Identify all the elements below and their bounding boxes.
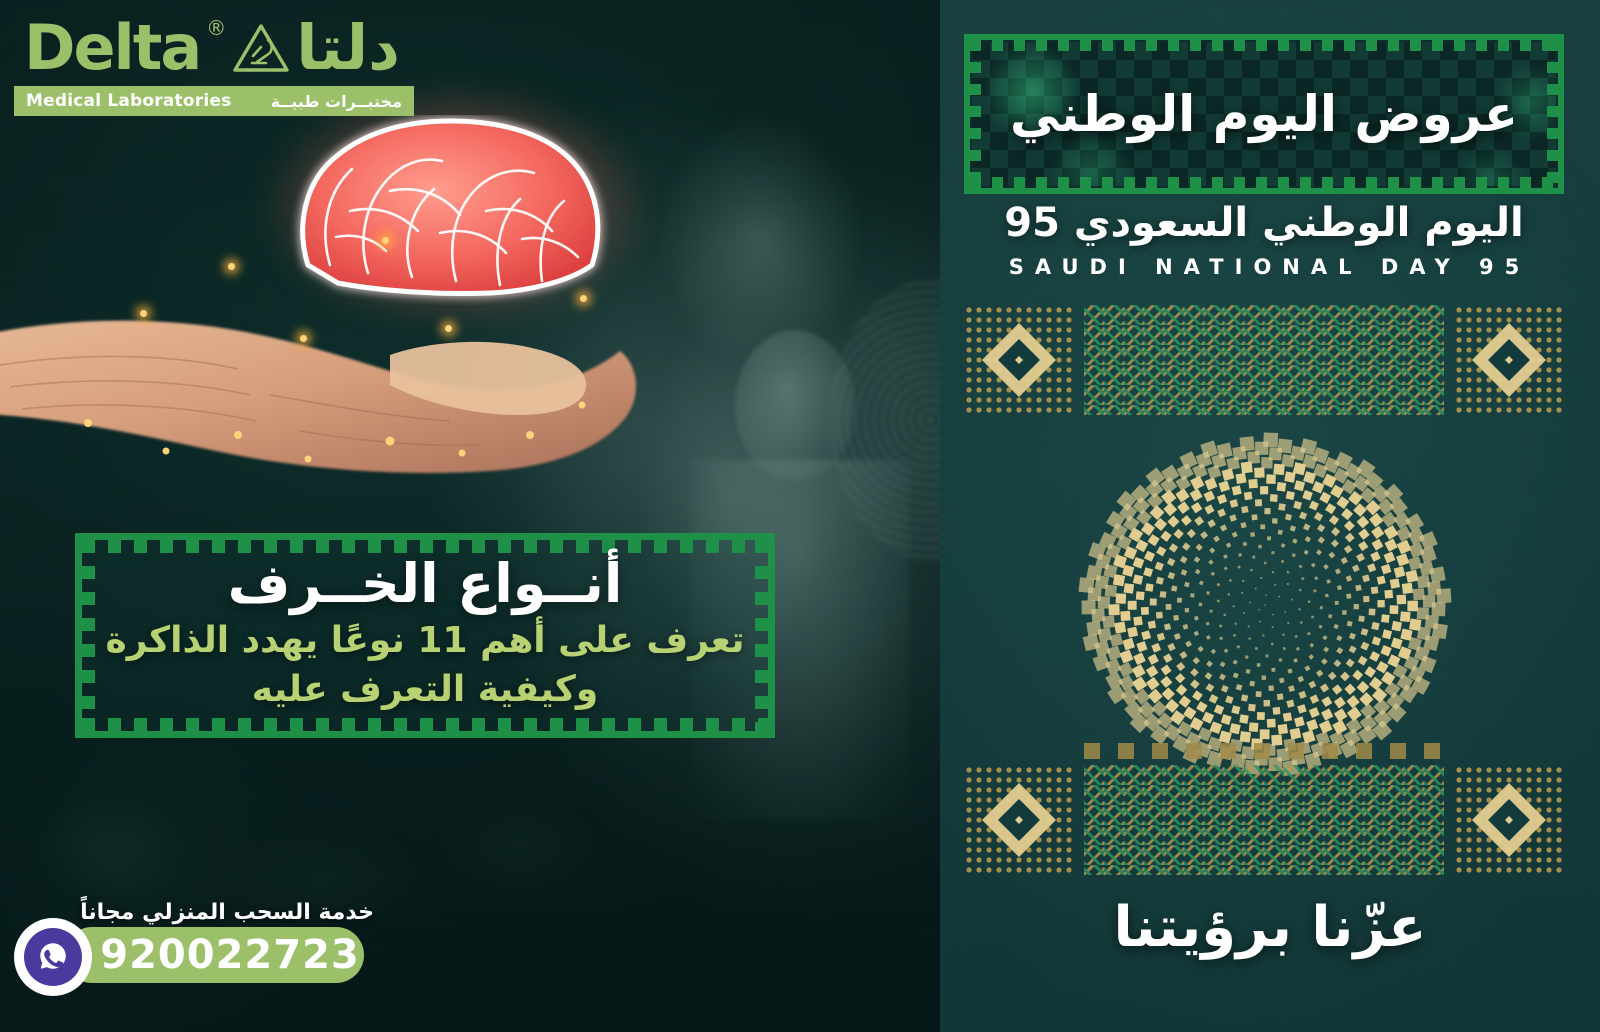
national-day-slogan: عزّنا برؤيتنا	[950, 895, 1590, 960]
logo-tagline-en: Medical Laboratories	[26, 91, 231, 111]
sadu-center-weave-top	[1084, 305, 1444, 415]
logo-tagline-ar: مختبــرات طبيــة	[271, 92, 402, 111]
national-day-title-en: SAUDI NATIONAL DAY 95	[964, 255, 1564, 279]
headline-title: أنــواع الخــرف	[228, 553, 623, 615]
microscope-triangle-icon	[232, 22, 290, 74]
headline-subtitle-line2: وكيفية التعرف عليه	[252, 666, 598, 713]
national-day-title-ar: اليوم الوطني السعودي 95	[964, 200, 1564, 246]
home-service-label: خدمة السحب المنزلي مجاناً	[18, 900, 388, 925]
phone-number[interactable]: 920022723	[68, 932, 360, 978]
sadu-pattern-band-bottom	[964, 765, 1564, 875]
elderly-hand-icon	[0, 245, 670, 545]
headline-subtitle-line1: تعرف على أهم 11 نوعًا يهدد الذاكرة	[106, 617, 745, 664]
whatsapp-button[interactable]	[14, 918, 92, 996]
whatsapp-icon	[36, 940, 70, 974]
sadu-center-weave-bottom	[1084, 765, 1444, 875]
offers-banner: عروض اليوم الوطني	[964, 34, 1564, 194]
registered-trademark-icon: ®	[206, 16, 226, 40]
brand-logo[interactable]: Delta ® دلتا Medical Laboratories مختبــ…	[14, 12, 414, 120]
logo-name-en: Delta	[24, 17, 200, 79]
sadu-strip-upper	[1084, 743, 1444, 759]
logo-name-ar: دلتا	[296, 15, 400, 81]
national-day-panel: عروض اليوم الوطني اليوم الوطني السعودي 9…	[940, 0, 1600, 1032]
hero-image	[0, 95, 690, 515]
phone-badge[interactable]: 920022723	[64, 927, 364, 983]
offers-title: عروض اليوم الوطني	[964, 34, 1564, 194]
sadu-pattern-band-top	[964, 305, 1564, 415]
phyllotaxis-spiral-icon	[1050, 420, 1480, 790]
poster-canvas: Delta ® دلتا Medical Laboratories مختبــ…	[0, 0, 1600, 1032]
headline-panel: أنــواع الخــرف تعرف على أهم 11 نوعًا يه…	[75, 533, 775, 738]
